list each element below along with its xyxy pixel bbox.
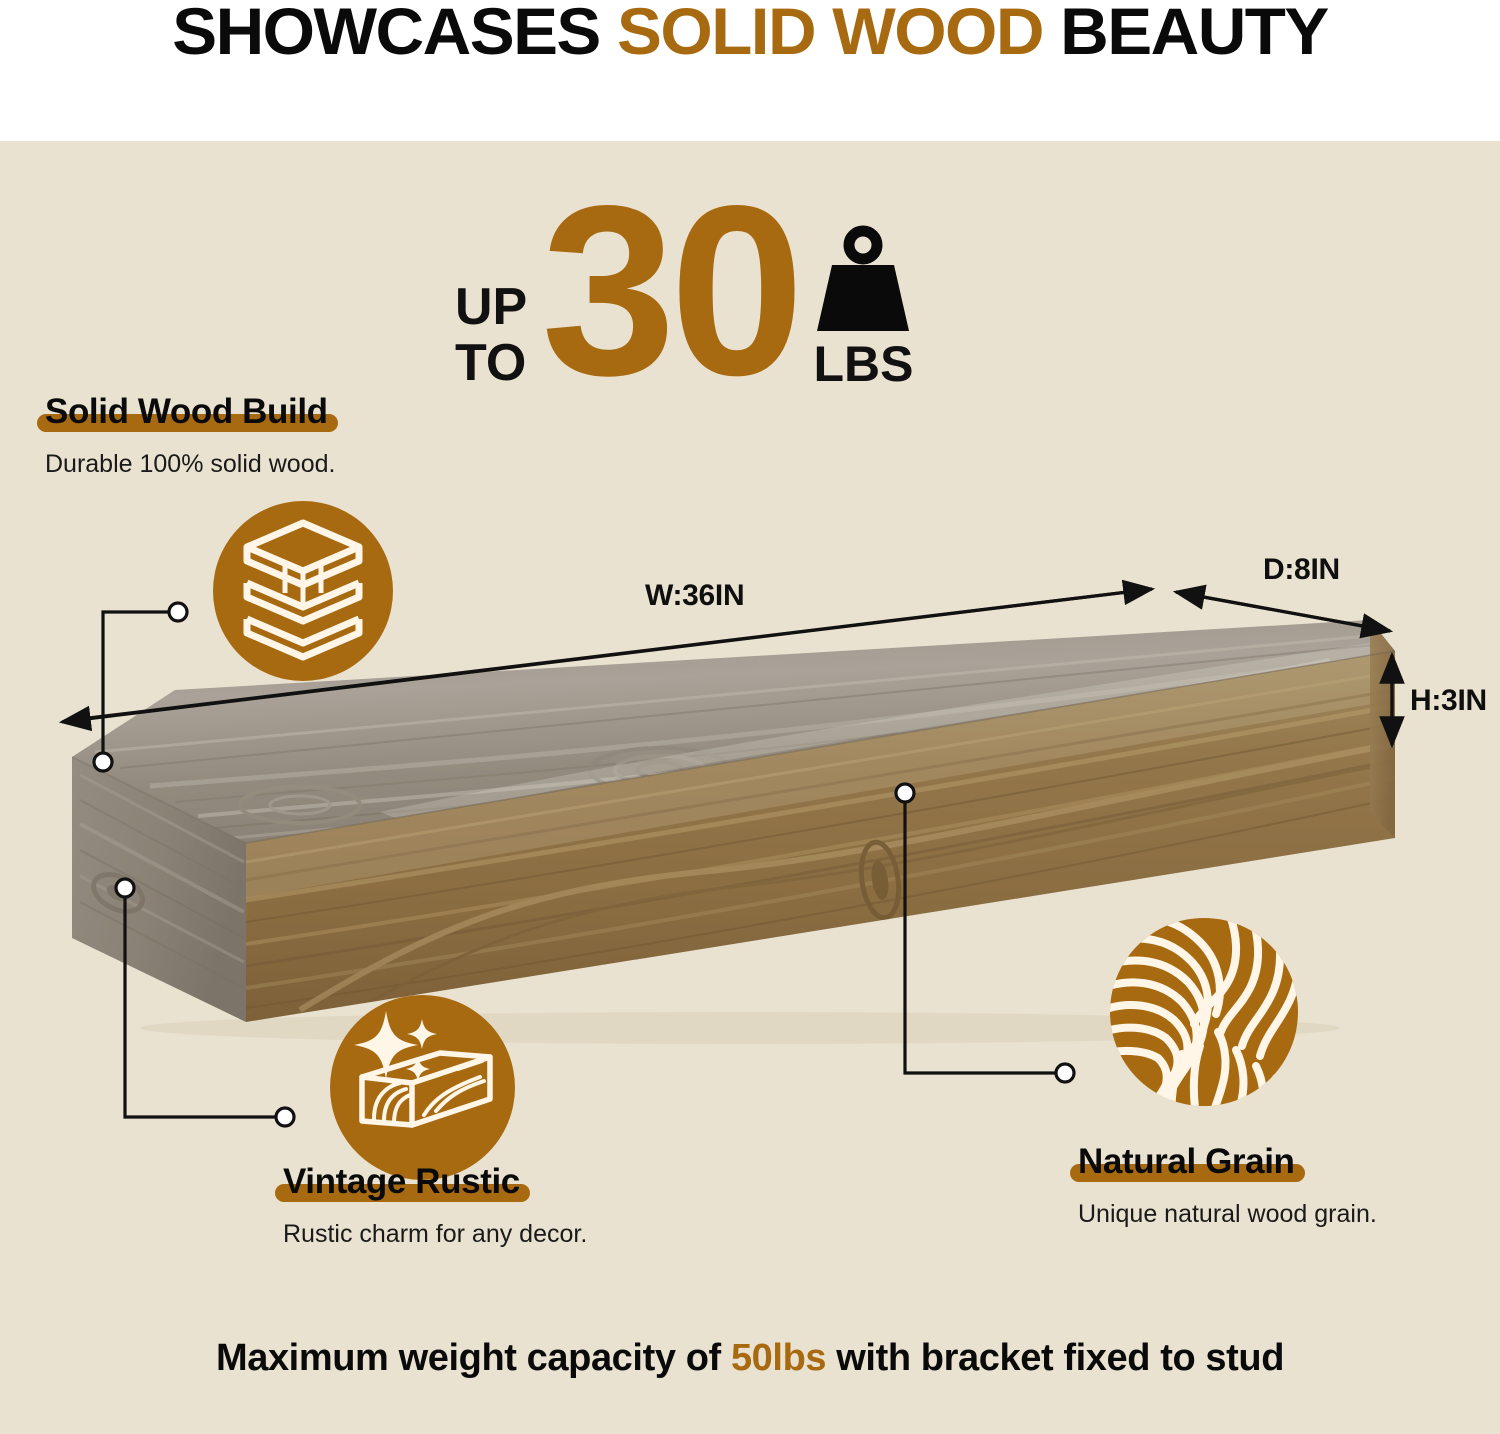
callout-line-solid-wood: [103, 612, 178, 762]
feature-title-wrap-vintage: Vintage Rustic: [283, 1160, 520, 1204]
feature-title-solid-wood: Solid Wood Build: [45, 390, 328, 434]
feature-title-wrap-solid-wood: Solid Wood Build: [45, 390, 328, 434]
feature-title-grain: Natural Grain: [1078, 1140, 1295, 1184]
infographic-canvas: SHOWCASES SOLID WOOD BEAUTY UP TO 30 LBS: [0, 0, 1500, 1434]
callout-dot-solid-wood-end: [169, 603, 187, 621]
caption-highlight: 50lbs: [731, 1337, 826, 1379]
feature-subtitle-solid-wood: Durable 100% solid wood.: [45, 447, 335, 481]
callout-dot-grain-anchor: [896, 784, 914, 802]
feature-solid-wood-build: Solid Wood Build Durable 100% solid wood…: [45, 390, 335, 481]
feature-title-vintage: Vintage Rustic: [283, 1160, 520, 1204]
stacked-wood-layers-icon: [213, 501, 393, 681]
caption-part1: Maximum weight capacity of: [216, 1337, 731, 1379]
callout-dot-vintage-anchor: [116, 879, 134, 897]
feature-subtitle-vintage: Rustic charm for any decor.: [283, 1217, 587, 1251]
wood-grain-pattern-icon: [1108, 916, 1300, 1108]
callout-dot-solid-wood-anchor: [94, 753, 112, 771]
callout-dot-vintage-end: [276, 1108, 294, 1126]
bottom-caption: Maximum weight capacity of 50lbs with br…: [0, 1337, 1500, 1380]
callout-line-natural-grain: [905, 793, 1065, 1073]
callout-dot-grain-end: [1056, 1064, 1074, 1082]
feature-natural-grain: Natural Grain Unique natural wood grain.: [1078, 1140, 1377, 1231]
callout-line-vintage-rustic: [125, 888, 285, 1117]
feature-vintage-rustic: Vintage Rustic Rustic charm for any deco…: [283, 1160, 587, 1251]
caption-part2: with bracket fixed to stud: [826, 1337, 1284, 1379]
feature-title-wrap-grain: Natural Grain: [1078, 1140, 1295, 1184]
feature-subtitle-grain: Unique natural wood grain.: [1078, 1197, 1377, 1231]
sparkling-wood-plank-icon: [330, 995, 515, 1180]
